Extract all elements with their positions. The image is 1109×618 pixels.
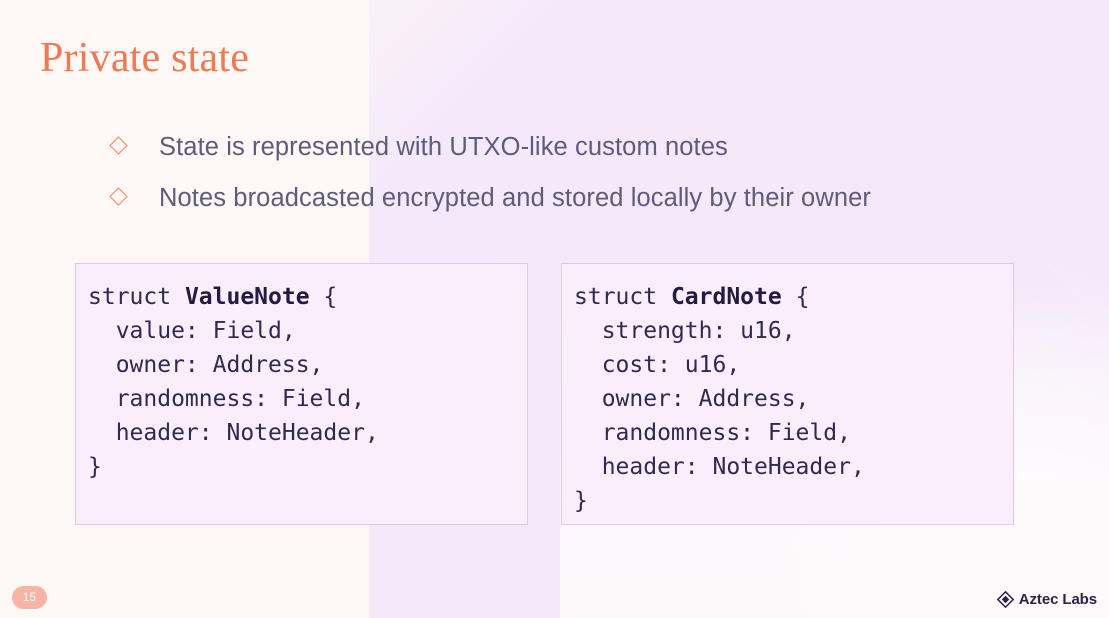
code-brace-open: { [310, 284, 338, 310]
code-keyword-struct: struct [88, 284, 185, 310]
list-item: State is represented with UTXO-like cust… [112, 130, 1072, 164]
code-block-card-note: struct CardNote { strength: u16, cost: u… [561, 263, 1014, 525]
list-item-label: Notes broadcasted encrypted and stored l… [159, 181, 871, 215]
code-struct-name: ValueNote [185, 284, 310, 310]
code-brace-open: { [782, 284, 810, 310]
slide: Private state State is represented with … [0, 0, 1109, 618]
brand-logo-text: Aztec Labs [1019, 591, 1097, 608]
page-number-badge: 15 [12, 586, 47, 609]
code-blocks-row: struct ValueNote { value: Field, owner: … [75, 263, 1014, 525]
diamond-outline-icon [109, 136, 127, 154]
code-block-value-note: struct ValueNote { value: Field, owner: … [75, 263, 528, 525]
list-item: Notes broadcasted encrypted and stored l… [112, 181, 1072, 215]
code-keyword-struct: struct [574, 284, 671, 310]
brand-logo: Aztec Labs [997, 591, 1097, 608]
page-title: Private state [40, 34, 249, 82]
code-struct-name: CardNote [671, 284, 782, 310]
list-item-label: State is represented with UTXO-like cust… [159, 130, 728, 164]
aztec-diamond-icon [997, 591, 1014, 608]
code-body: value: Field, owner: Address, randomness… [88, 318, 379, 480]
code-body: strength: u16, cost: u16, owner: Address… [574, 318, 865, 514]
bullet-list: State is represented with UTXO-like cust… [112, 130, 1072, 233]
diamond-outline-icon [109, 188, 127, 206]
